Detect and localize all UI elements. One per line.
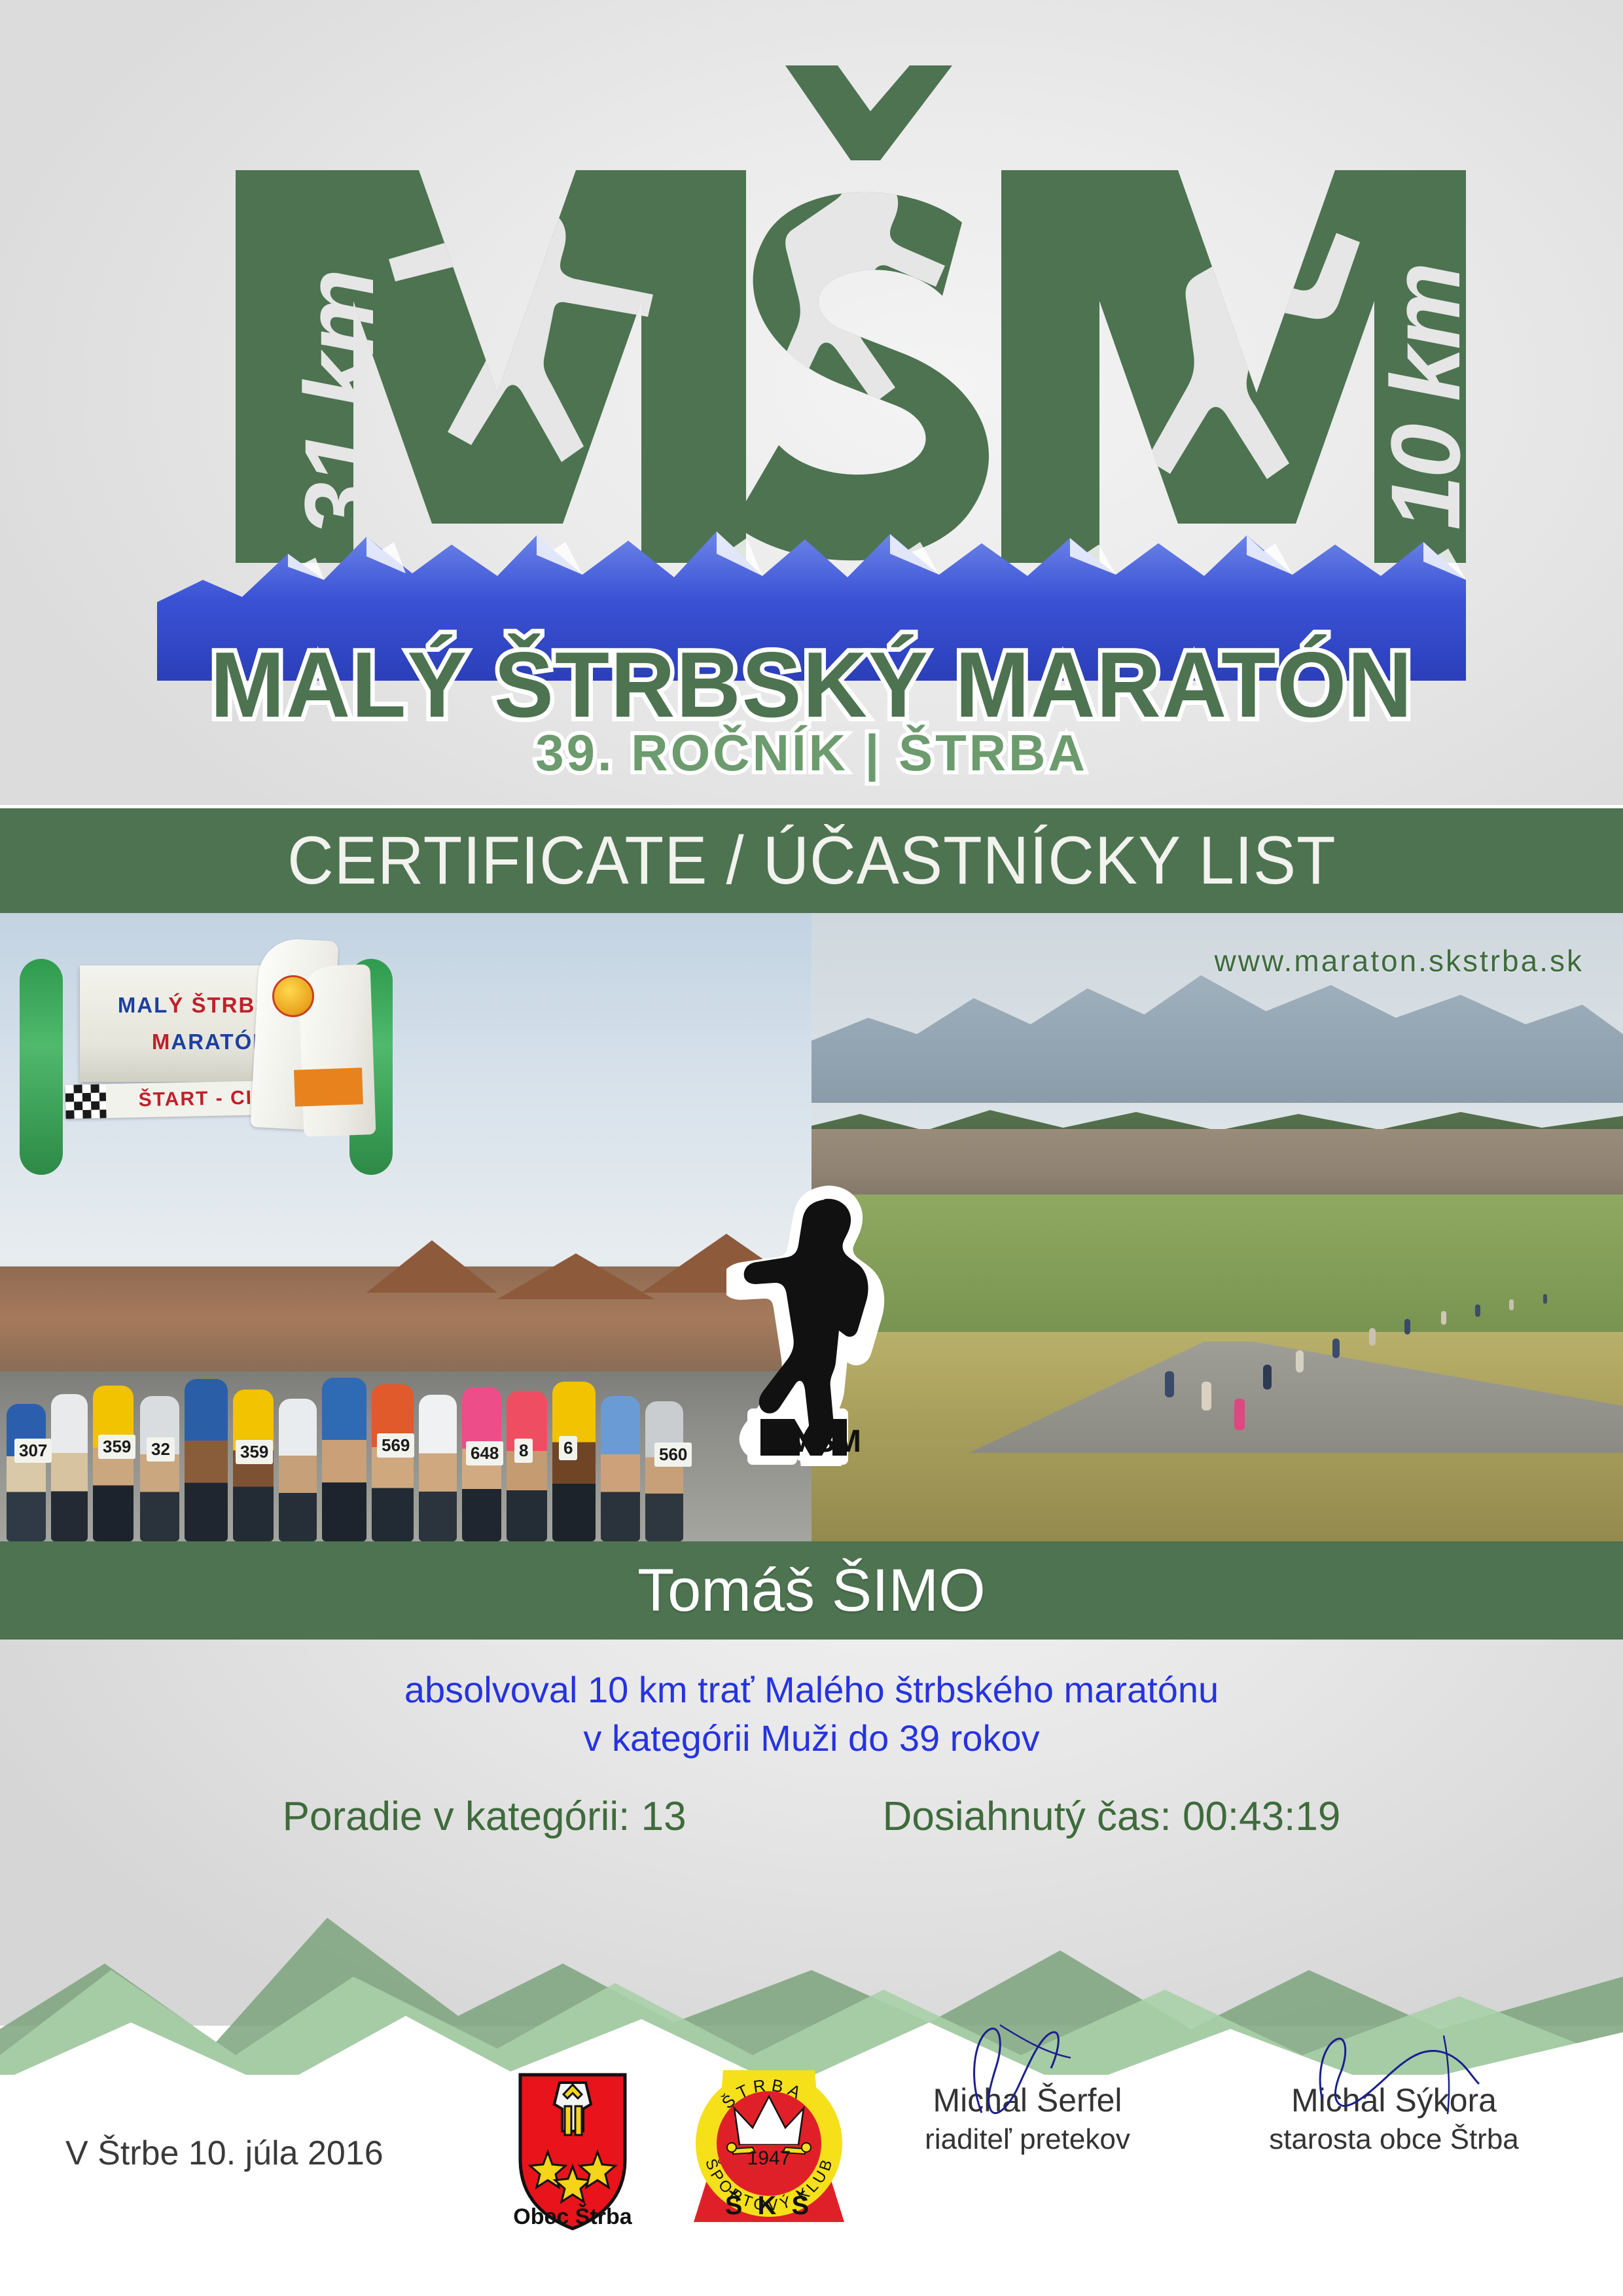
runner bbox=[322, 1378, 366, 1541]
runner bbox=[1543, 1294, 1547, 1304]
logo-subtitle: 39. ROČNÍK | ŠTRBA bbox=[0, 723, 1623, 783]
arch-text: M bbox=[152, 1030, 171, 1054]
emblem-text: MŠM bbox=[788, 1423, 861, 1459]
logo-caron bbox=[785, 65, 952, 160]
svg-text:31 km: 31 km bbox=[284, 272, 394, 537]
runner bbox=[552, 1382, 596, 1541]
footer: V Štrbe 10. júla 2016 Obec Štrba bbox=[0, 2075, 1623, 2296]
bib-number: 32 bbox=[147, 1437, 175, 1462]
msm-runner-emblem: MŠM bbox=[726, 1178, 923, 1466]
runner bbox=[645, 1401, 683, 1541]
bib-number: 8 bbox=[514, 1439, 533, 1463]
club-year: 1947 bbox=[747, 2147, 791, 2169]
logo-letter-m-right: 10 km bbox=[1001, 170, 1466, 563]
club-initials: Š K Š bbox=[725, 2190, 813, 2220]
runner bbox=[1296, 1350, 1304, 1372]
bib-number: 560 bbox=[654, 1443, 692, 1467]
photo-race-start: MALÝ ŠTRBSKÝ MARATÓN ŠTART - CIEĽ bbox=[0, 913, 811, 1541]
handwritten-signature bbox=[1283, 2021, 1505, 2119]
runner bbox=[507, 1391, 547, 1541]
checkered-pattern bbox=[65, 1084, 107, 1119]
sports-club-logo: 1947 ŠTRBA ŠPORTOVÝ KLUB Š K Š bbox=[687, 2065, 851, 2232]
arch-text: Ý bbox=[168, 993, 184, 1017]
runner bbox=[51, 1394, 88, 1541]
signatory-role: riaditeľ pretekov bbox=[844, 2123, 1211, 2156]
bib-number: 6 bbox=[559, 1436, 577, 1460]
runner bbox=[1165, 1371, 1174, 1397]
logo-letter-s bbox=[733, 177, 989, 560]
runner bbox=[1263, 1365, 1272, 1390]
category-rank-label: Poradie v kategórii: bbox=[283, 1794, 630, 1839]
runner-crowd: 307 359 32 359 569 648 8 6 560 bbox=[0, 1312, 811, 1541]
runner bbox=[93, 1386, 134, 1541]
runner bbox=[1441, 1311, 1446, 1325]
issue-date: V Štrbe 10. júla 2016 bbox=[65, 2134, 383, 2173]
bib-number: 648 bbox=[466, 1441, 503, 1465]
runner bbox=[185, 1379, 228, 1541]
runner bbox=[1509, 1299, 1514, 1310]
category-rank: Poradie v kategórii: 13 bbox=[283, 1793, 687, 1840]
runner bbox=[1202, 1382, 1211, 1410]
arch-leg-left bbox=[20, 959, 63, 1175]
certificate-page: 31 km 10 km bbox=[0, 0, 1623, 2296]
finish-time: Dosiahnutý čas: 00:43:19 bbox=[883, 1793, 1341, 1840]
runner bbox=[1332, 1338, 1340, 1358]
finish-time-label: Dosiahnutý čas: bbox=[883, 1794, 1171, 1839]
bib-number: 307 bbox=[14, 1439, 52, 1463]
handwritten-signature bbox=[923, 2021, 1132, 2119]
photo-course-landscape: www.maraton.skstrba.sk bbox=[811, 913, 1623, 1541]
arch-banner-line-2: MARATÓN bbox=[152, 1030, 270, 1054]
logo-subtitle-text: 39. ROČNÍK | ŠTRBA bbox=[535, 723, 1088, 783]
logo-letter-m-left: 31 km bbox=[236, 170, 746, 563]
bib-number: 359 bbox=[236, 1440, 273, 1464]
runner bbox=[1475, 1304, 1480, 1317]
website-url: www.maraton.skstrba.sk bbox=[1215, 943, 1584, 978]
athlete-name-band: Tomáš ŠIMO bbox=[0, 1541, 1623, 1640]
event-logo: 31 km 10 km bbox=[0, 26, 1623, 798]
runner bbox=[140, 1396, 179, 1541]
svg-text:10 km: 10 km bbox=[1370, 265, 1466, 530]
runner bbox=[1369, 1328, 1376, 1346]
runner bbox=[233, 1390, 274, 1541]
athlete-name: Tomáš ŠIMO bbox=[637, 1560, 986, 1621]
certificate-title: CERTIFICATE / ÚČASTNÍCKY LIST bbox=[287, 827, 1336, 895]
achievement-line-1: absolvoval 10 km trať Malého štrbského m… bbox=[0, 1666, 1623, 1714]
sponsor-flag-stripe bbox=[294, 1067, 363, 1107]
runner bbox=[7, 1404, 46, 1541]
arch-text: MAL bbox=[118, 993, 168, 1017]
runner bbox=[372, 1384, 414, 1541]
bib-number: 569 bbox=[377, 1433, 414, 1458]
sponsor-badge-icon bbox=[272, 975, 314, 1017]
signatory-role: starosta obce Štrba bbox=[1211, 2123, 1577, 2156]
results-row: Poradie v kategórii: 13 Dosiahnutý čas: … bbox=[0, 1793, 1623, 1840]
achievement-line-2: v kategórii Muži do 39 rokov bbox=[0, 1714, 1623, 1763]
runner bbox=[601, 1396, 640, 1541]
finish-time-value: 00:43:19 bbox=[1183, 1794, 1340, 1839]
certificate-title-band: CERTIFICATE / ÚČASTNÍCKY LIST bbox=[0, 808, 1623, 913]
achievement-description: absolvoval 10 km trať Malého štrbského m… bbox=[0, 1666, 1623, 1763]
signature-block-director: Michal Šerfel riaditeľ pretekov bbox=[844, 2081, 1211, 2156]
runner bbox=[1404, 1319, 1410, 1335]
category-rank-value: 13 bbox=[641, 1794, 687, 1839]
municipality-label: Obec Štrba bbox=[497, 2204, 648, 2230]
runner bbox=[1234, 1399, 1245, 1430]
bib-number: 359 bbox=[98, 1435, 135, 1459]
runner bbox=[279, 1399, 317, 1541]
signature-block-mayor: Michal Sýkora starosta obce Štrba bbox=[1211, 2081, 1577, 2156]
runner bbox=[419, 1395, 457, 1541]
